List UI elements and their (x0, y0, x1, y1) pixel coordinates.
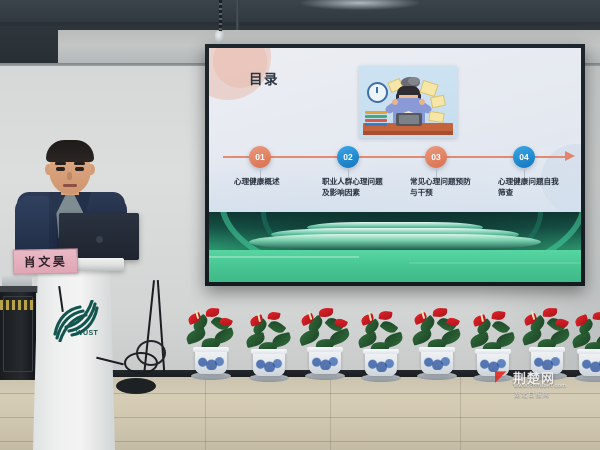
watermark-url: www.cnhubei.com (514, 383, 567, 389)
slide-title: 目录 (249, 68, 279, 88)
university-logo-text: WUST (76, 330, 98, 337)
timeline-node-01[interactable]: 01 (249, 146, 271, 168)
timeline-node-02[interactable]: 02 (337, 146, 359, 168)
paper-icon (428, 111, 444, 123)
potted-plant (408, 306, 466, 380)
green-stage-graphic (209, 212, 581, 282)
timeline-label-01: 心理健康概述 (234, 176, 318, 187)
books-icon (365, 110, 387, 126)
ceiling-chain (219, 0, 222, 32)
watermark: ◤ 荆楚网 www.cnhubei.com 湖北日报网 (495, 368, 595, 400)
cable-bundle (116, 378, 156, 394)
presenter-name-badge: 肖文昊 (13, 248, 79, 274)
ceiling-light (300, 0, 420, 10)
timeline-number: 04 (519, 152, 528, 162)
stress-cloud-icon (408, 77, 420, 85)
cabinet-vent (0, 300, 34, 310)
timeline-label-04: 心理健康问题自我筛查 (498, 176, 581, 198)
potted-plant (182, 306, 240, 380)
watermark-mark-icon: ◤ (495, 370, 511, 384)
potted-plant (296, 306, 354, 380)
timeline-node-04[interactable]: 04 (513, 146, 535, 168)
laptop-icon (396, 113, 422, 126)
timeline-label-02: 职业人群心理问题及影响因素 (322, 176, 406, 198)
stressed-office-worker-illustration (359, 66, 457, 138)
potted-plant (240, 308, 298, 382)
screen-bezel: 目录 (209, 48, 581, 282)
presentation-slide: 目录 (209, 48, 581, 212)
arrow-right-icon (565, 151, 575, 161)
timeline-number: 03 (431, 152, 440, 162)
watermark-subtitle: 湖北日报网 (514, 390, 550, 399)
timeline-label-03: 常见心理问题预防与干预 (410, 176, 494, 198)
cable-coil (136, 340, 166, 366)
led-display-screen[interactable]: 目录 (205, 44, 585, 286)
timeline-number: 01 (255, 152, 264, 162)
ceiling-mount-rod (236, 0, 239, 30)
ceiling-rail (0, 22, 600, 26)
clock-icon (367, 82, 388, 103)
hanging-sensor (215, 31, 224, 43)
timeline-track: 01 02 03 04 (209, 155, 581, 158)
screenshot-scene: 目录 (0, 0, 600, 450)
timeline-node-03[interactable]: 03 (425, 146, 447, 168)
timeline-number: 02 (343, 152, 352, 162)
potted-plant (352, 308, 410, 382)
